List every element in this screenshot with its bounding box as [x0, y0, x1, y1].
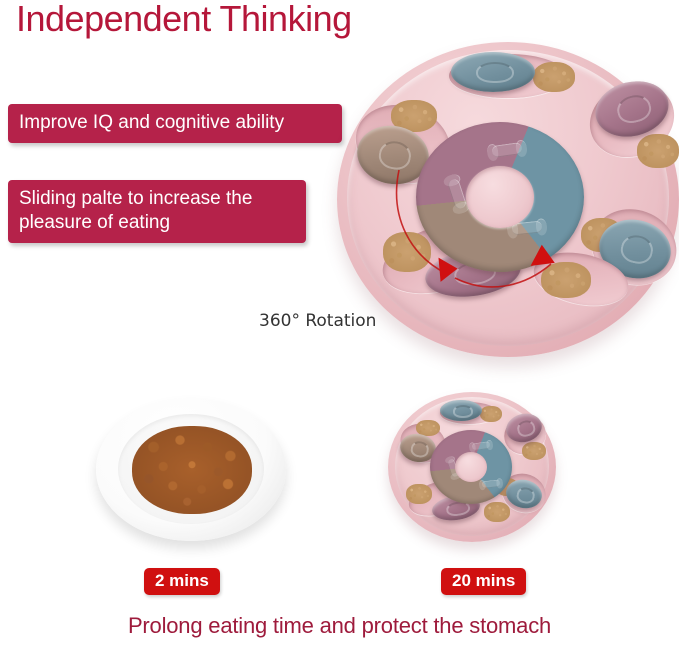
mini-bone-emboss-blue [482, 479, 501, 488]
time-badge-puzzle: 20 mins [441, 568, 526, 595]
mini-bone-emboss-mauve [472, 441, 491, 451]
plain-plate-image [96, 398, 286, 546]
slider-cover-top[interactable] [451, 52, 535, 92]
feature-banner-sliding-plate: Sliding palte to increase the pleasure o… [8, 180, 306, 243]
mini-kibble-bottom-left [406, 484, 432, 504]
kibble-pile-bottom-right [541, 262, 591, 298]
page-title: Independent Thinking [16, 0, 352, 40]
feature-banner-iq: Improve IQ and cognitive ability [8, 104, 342, 143]
mini-kibble-upper-right [522, 442, 546, 460]
kibble-pile-upper-right [637, 134, 679, 168]
kibble-pile-top [533, 62, 575, 92]
mini-kibble-top [480, 406, 502, 422]
mini-product-image [388, 392, 556, 550]
kibble-pile-on-plate [132, 426, 252, 514]
mini-hub-center-knob [455, 452, 487, 482]
bone-emboss-tan [447, 178, 468, 210]
bone-emboss-mauve [491, 142, 522, 158]
time-badge-plate: 2 mins [144, 568, 220, 595]
rotating-center-hub[interactable] [416, 122, 584, 272]
hub-center-knob [466, 166, 534, 228]
mini-slider-top[interactable] [440, 400, 482, 421]
hero-product-image [337, 42, 679, 367]
mini-kibble-bottom-right [484, 502, 510, 522]
kibble-pile-bottom-left [383, 232, 431, 272]
footer-caption: Prolong eating time and protect the stom… [0, 613, 679, 639]
mini-rotating-center-hub[interactable] [430, 430, 512, 504]
